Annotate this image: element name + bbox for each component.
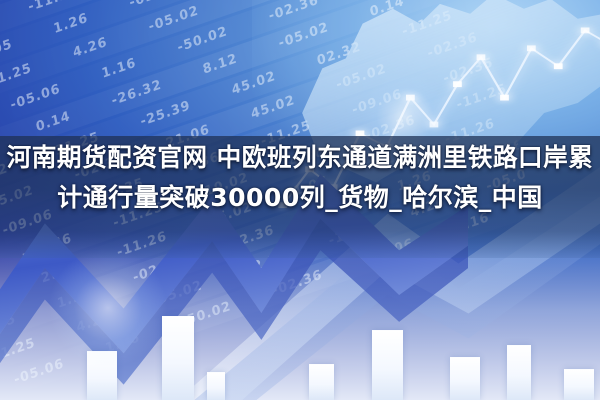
headline-line-2: 计通行量突破30000列_货物_哈尔滨_中国	[2, 178, 598, 218]
chart-bar	[207, 372, 225, 400]
chart-bar	[564, 369, 594, 400]
headline-line-1: 河南期货配资官网 中欧班列东通道满洲里铁路口岸累	[6, 138, 593, 178]
chart-node	[527, 45, 536, 51]
chart-node	[453, 81, 462, 87]
chart-node	[477, 54, 486, 60]
chart-bar	[372, 330, 403, 400]
headline-text: 河南期货配资官网 中欧班列东通道满洲里铁路口岸累 计通行量突破30000列_货物…	[0, 138, 600, 218]
chart-node	[581, 27, 590, 33]
chart-bar	[450, 357, 480, 400]
chart-bar	[309, 364, 334, 400]
banner-image: -05.02-02.3621.0645.02-05.02-02.3621.064…	[0, 0, 600, 400]
chart-bar	[162, 316, 194, 400]
chart-node	[554, 63, 563, 69]
chart-bar	[507, 345, 531, 400]
light-glow-lower	[48, 248, 168, 368]
chart-node	[500, 95, 509, 101]
